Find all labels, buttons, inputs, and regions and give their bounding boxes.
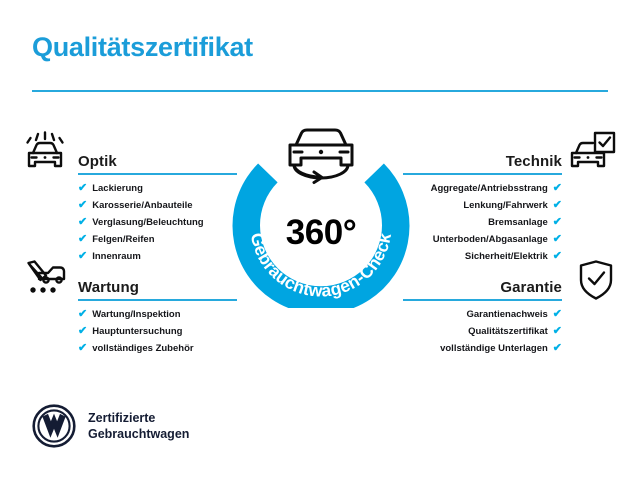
list-item: ✔ Lackierung	[78, 183, 237, 194]
check-icon: ✔	[78, 200, 87, 211]
list-item: Sicherheit/Elektrik ✔	[403, 251, 562, 262]
list-item: ✔ Karosserie/Anbauteile	[78, 200, 237, 211]
list-item: ✔ Felgen/Reifen	[78, 234, 237, 245]
list-item: Bremsanlage ✔	[403, 217, 562, 228]
list-item: Aggregate/Antriebsstrang ✔	[403, 183, 562, 194]
list-item: ✔ Hauptuntersuchung	[78, 326, 237, 337]
list-item-label: Verglasung/Beleuchtung	[92, 218, 203, 228]
check-icon: ✔	[78, 234, 87, 245]
list-item: ✔ vollständiges Zubehör	[78, 343, 237, 354]
check-icon: ✔	[553, 234, 562, 245]
list-item-label: Aggregate/Antriebsstrang	[431, 184, 548, 194]
list-item: Garantienachweis ✔	[403, 309, 562, 320]
section-optik: Optik ✔ Lackierung ✔ Karosserie/Anbautei…	[78, 140, 237, 268]
list-item-label: vollständige Unterlagen	[440, 344, 548, 354]
list-item-label: Lackierung	[92, 184, 143, 194]
section-header: Garantie	[403, 266, 562, 300]
check-icon: ✔	[553, 183, 562, 194]
list-item-label: Lenkung/Fahrwerk	[463, 201, 547, 211]
list-item-label: Felgen/Reifen	[92, 235, 154, 245]
section-divider	[403, 299, 562, 301]
check-icon: ✔	[78, 343, 87, 354]
certificate-page: Qualitätszertifikat Optik	[0, 0, 640, 480]
check-icon: ✔	[553, 343, 562, 354]
list-item: Unterboden/Abgasanlage ✔	[403, 234, 562, 245]
section-title: Garantie	[500, 279, 562, 296]
footer-line-1: Zertifizierte	[88, 410, 189, 427]
check-icon: ✔	[78, 326, 87, 337]
section-wartung: Wartung ✔ Wartung/Inspektion ✔ Hauptunte…	[78, 266, 237, 360]
car-checkbox-icon	[570, 131, 616, 175]
list-item: Qualitätszertifikat ✔	[403, 326, 562, 337]
badge-center-label: 360°	[286, 213, 356, 252]
list-item-label: Innenraum	[92, 252, 141, 262]
list-item-label: Karosserie/Anbauteile	[92, 201, 192, 211]
list-item: ✔ Wartung/Inspektion	[78, 309, 237, 320]
footer-brand: Zertifizierte Gebrauchtwagen	[32, 404, 189, 448]
car-rotation-icon	[290, 130, 352, 183]
list-item: Lenkung/Fahrwerk ✔	[403, 200, 562, 211]
shield-check-icon	[573, 259, 619, 303]
list-item-label: Wartung/Inspektion	[92, 310, 180, 320]
list-item: ✔ Verglasung/Beleuchtung	[78, 217, 237, 228]
section-garantie: Garantie Garantienachweis ✔ Qualitätszer…	[403, 266, 562, 360]
page-title: Qualitätszertifikat	[32, 32, 253, 63]
car-front-lights-icon	[22, 131, 68, 175]
badge-360-gebrauchtwagen-check: Gebrauchtwagen-Check 360°	[228, 112, 414, 308]
list-item-label: Bremsanlage	[488, 218, 548, 228]
footer-text: Zertifizierte Gebrauchtwagen	[88, 410, 189, 443]
list-item-label: Hauptuntersuchung	[92, 327, 182, 337]
list-item-label: vollständiges Zubehör	[92, 344, 193, 354]
section-header: Wartung	[78, 266, 237, 300]
section-divider	[403, 173, 562, 175]
volkswagen-logo	[32, 404, 76, 448]
check-icon: ✔	[553, 251, 562, 262]
pen-car-service-icon	[22, 259, 68, 303]
checklist-wartung: ✔ Wartung/Inspektion ✔ Hauptuntersuchung…	[78, 309, 237, 354]
section-title: Technik	[506, 153, 562, 170]
list-item: vollständige Unterlagen ✔	[403, 343, 562, 354]
checklist-technik: Aggregate/Antriebsstrang ✔ Lenkung/Fahrw…	[403, 183, 562, 262]
check-icon: ✔	[553, 200, 562, 211]
list-item-label: Unterboden/Abgasanlage	[433, 235, 548, 245]
check-icon: ✔	[78, 309, 87, 320]
footer-line-2: Gebrauchtwagen	[88, 426, 189, 443]
header-divider	[32, 90, 608, 92]
check-icon: ✔	[553, 217, 562, 228]
check-icon: ✔	[78, 251, 87, 262]
section-header: Optik	[78, 140, 237, 174]
check-icon: ✔	[78, 183, 87, 194]
section-title: Optik	[78, 153, 117, 170]
list-item-label: Sicherheit/Elektrik	[465, 252, 548, 262]
check-icon: ✔	[78, 217, 87, 228]
check-icon: ✔	[553, 309, 562, 320]
section-divider	[78, 299, 237, 301]
section-title: Wartung	[78, 279, 139, 296]
check-icon: ✔	[553, 326, 562, 337]
checklist-optik: ✔ Lackierung ✔ Karosserie/Anbauteile ✔ V…	[78, 183, 237, 262]
section-header: Technik	[403, 140, 562, 174]
list-item-label: Qualitätszertifikat	[468, 327, 548, 337]
section-divider	[78, 173, 237, 175]
list-item: ✔ Innenraum	[78, 251, 237, 262]
list-item-label: Garantienachweis	[466, 310, 547, 320]
checklist-garantie: Garantienachweis ✔ Qualitätszertifikat ✔…	[403, 309, 562, 354]
section-technik: Technik Aggregate/Antriebsstrang ✔ Lenku…	[403, 140, 562, 268]
